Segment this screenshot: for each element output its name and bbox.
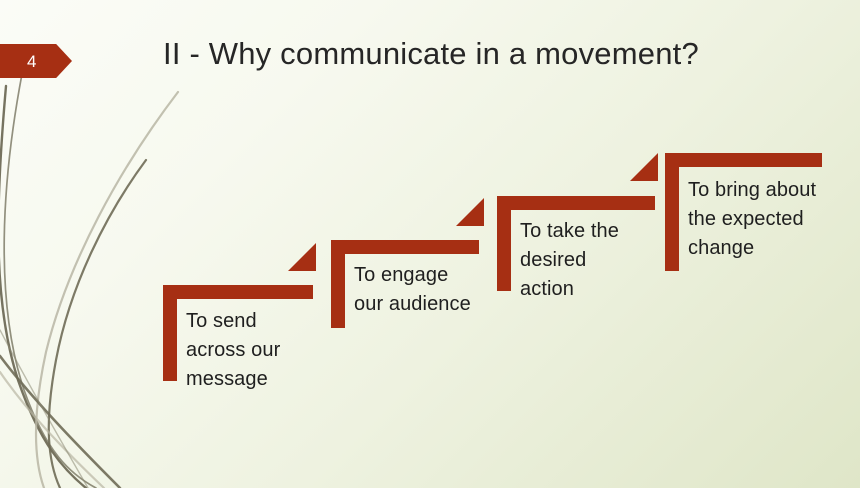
step-3-left-bar <box>497 196 511 291</box>
step-3-label: To take the desired action <box>520 217 626 303</box>
slide-canvas: 4 II - Why communicate in a movement? To… <box>0 0 860 488</box>
step-3-top-bar <box>497 196 655 210</box>
staircase-diagram: To send across our message To engage our… <box>0 0 860 488</box>
step-1-top-bar <box>163 285 313 299</box>
step-4-label: To bring about the expected change <box>688 176 823 262</box>
step-4-top-bar <box>665 153 822 167</box>
arrow-triangle-2 <box>456 198 484 226</box>
arrow-triangle-3 <box>630 153 658 181</box>
step-2-label: To engage our audience <box>354 261 476 319</box>
step-1-label: To send across our message <box>186 307 321 393</box>
step-4-left-bar <box>665 153 679 271</box>
step-1-left-bar <box>163 285 177 381</box>
step-2-top-bar <box>331 240 479 254</box>
step-2-left-bar <box>331 240 345 328</box>
arrow-triangle-1 <box>288 243 316 271</box>
